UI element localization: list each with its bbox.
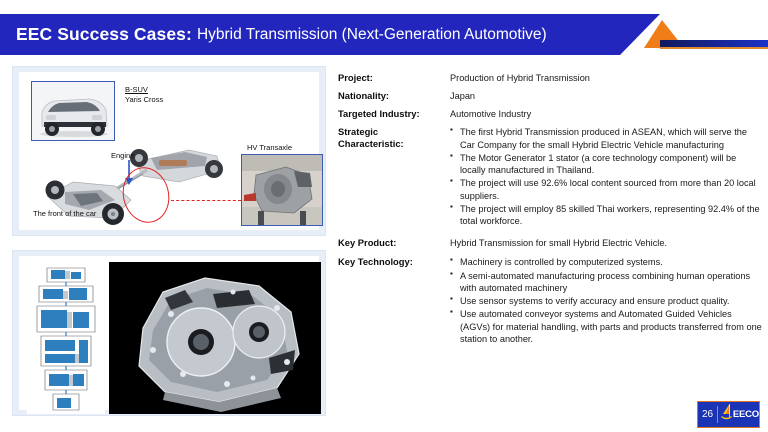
list-item: A semi-automated manufacturing process c… bbox=[450, 270, 762, 294]
list-item: The project will employ 85 skilled Thai … bbox=[450, 203, 762, 227]
detail-row: Project: Production of Hybrid Transmissi… bbox=[338, 72, 762, 84]
transaxle-housing-render bbox=[109, 262, 321, 414]
list-item: Use automated conveyor systems and Autom… bbox=[450, 308, 762, 345]
key-technology-row: Key Technology: Machinery is controlled … bbox=[338, 256, 762, 346]
key-technology-list: Machinery is controlled by computerized … bbox=[450, 256, 762, 345]
list-item: Machinery is controlled by computerized … bbox=[450, 256, 762, 268]
label-engine: Engine bbox=[111, 151, 134, 160]
page-number: 26 bbox=[698, 409, 717, 420]
project-details: Project: Production of Hybrid Transmissi… bbox=[338, 72, 762, 352]
hv-transaxle-photo bbox=[241, 154, 323, 226]
header-orange-line bbox=[660, 47, 768, 49]
label-hv-transaxle: HV Transaxle bbox=[247, 143, 292, 152]
page-title-bold: EEC Success Cases: bbox=[16, 24, 192, 45]
header-dark-bar bbox=[660, 40, 768, 47]
transmission-cutaway-diagram bbox=[27, 262, 105, 414]
transmission-detail-canvas bbox=[19, 256, 319, 410]
detail-value: Automotive Industry bbox=[450, 108, 762, 120]
detail-value: Japan bbox=[450, 90, 762, 102]
label-model-name: Yaris Cross bbox=[125, 95, 163, 104]
list-item: The Motor Generator 1 stator (a core tec… bbox=[450, 152, 762, 176]
key-technology-label: Key Technology: bbox=[338, 256, 450, 346]
transmission-detail-panel bbox=[12, 250, 326, 416]
detail-label: Targeted Industry: bbox=[338, 108, 450, 120]
strategic-characteristic-row: Strategic Characteristic: The first Hybr… bbox=[338, 126, 762, 228]
detail-value: Production of Hybrid Transmission bbox=[450, 72, 762, 84]
detail-row: Targeted Industry: Automotive Industry bbox=[338, 108, 762, 120]
eeco-logo: EECO bbox=[718, 403, 759, 426]
hybrid-suv-photo bbox=[31, 81, 115, 141]
strategic-characteristic-label: Strategic Characteristic: bbox=[338, 126, 450, 228]
key-product-row: Key Product: Hybrid Transmission for sma… bbox=[338, 237, 762, 249]
strategic-characteristic-list: The first Hybrid Transmission produced i… bbox=[450, 126, 762, 227]
eeco-logo-text: EECO bbox=[733, 409, 759, 420]
callout-dashed-connector bbox=[171, 200, 241, 201]
page-title-subtitle: Hybrid Transmission (Next-Generation Aut… bbox=[197, 26, 547, 44]
label-front-of-car: The front of the car bbox=[33, 209, 96, 218]
detail-row: Nationality: Japan bbox=[338, 90, 762, 102]
detail-label: Project: bbox=[338, 72, 450, 84]
slide-header: EEC Success Cases: Hybrid Transmission (… bbox=[0, 14, 768, 55]
detail-label: Nationality: bbox=[338, 90, 450, 102]
vehicle-diagram-canvas: B-SUV Yaris Cross bbox=[19, 72, 319, 230]
vehicle-diagram-panel: B-SUV Yaris Cross bbox=[12, 66, 326, 236]
key-product-value: Hybrid Transmission for small Hybrid Ele… bbox=[450, 237, 762, 249]
list-item: Use sensor systems to verify accuracy an… bbox=[450, 295, 762, 307]
list-item: The project will use 92.6% local content… bbox=[450, 177, 762, 201]
footer-badge: 26 EECO bbox=[697, 401, 760, 428]
strategic-label-line2: Characteristic: bbox=[338, 138, 450, 150]
eeco-flame-icon bbox=[720, 403, 733, 426]
key-product-label: Key Product: bbox=[338, 237, 450, 249]
list-item: The first Hybrid Transmission produced i… bbox=[450, 126, 762, 150]
strategic-label-line1: Strategic bbox=[338, 126, 450, 138]
label-b-suv: B-SUV bbox=[125, 85, 148, 94]
page-title: EEC Success Cases: Hybrid Transmission (… bbox=[16, 14, 547, 55]
